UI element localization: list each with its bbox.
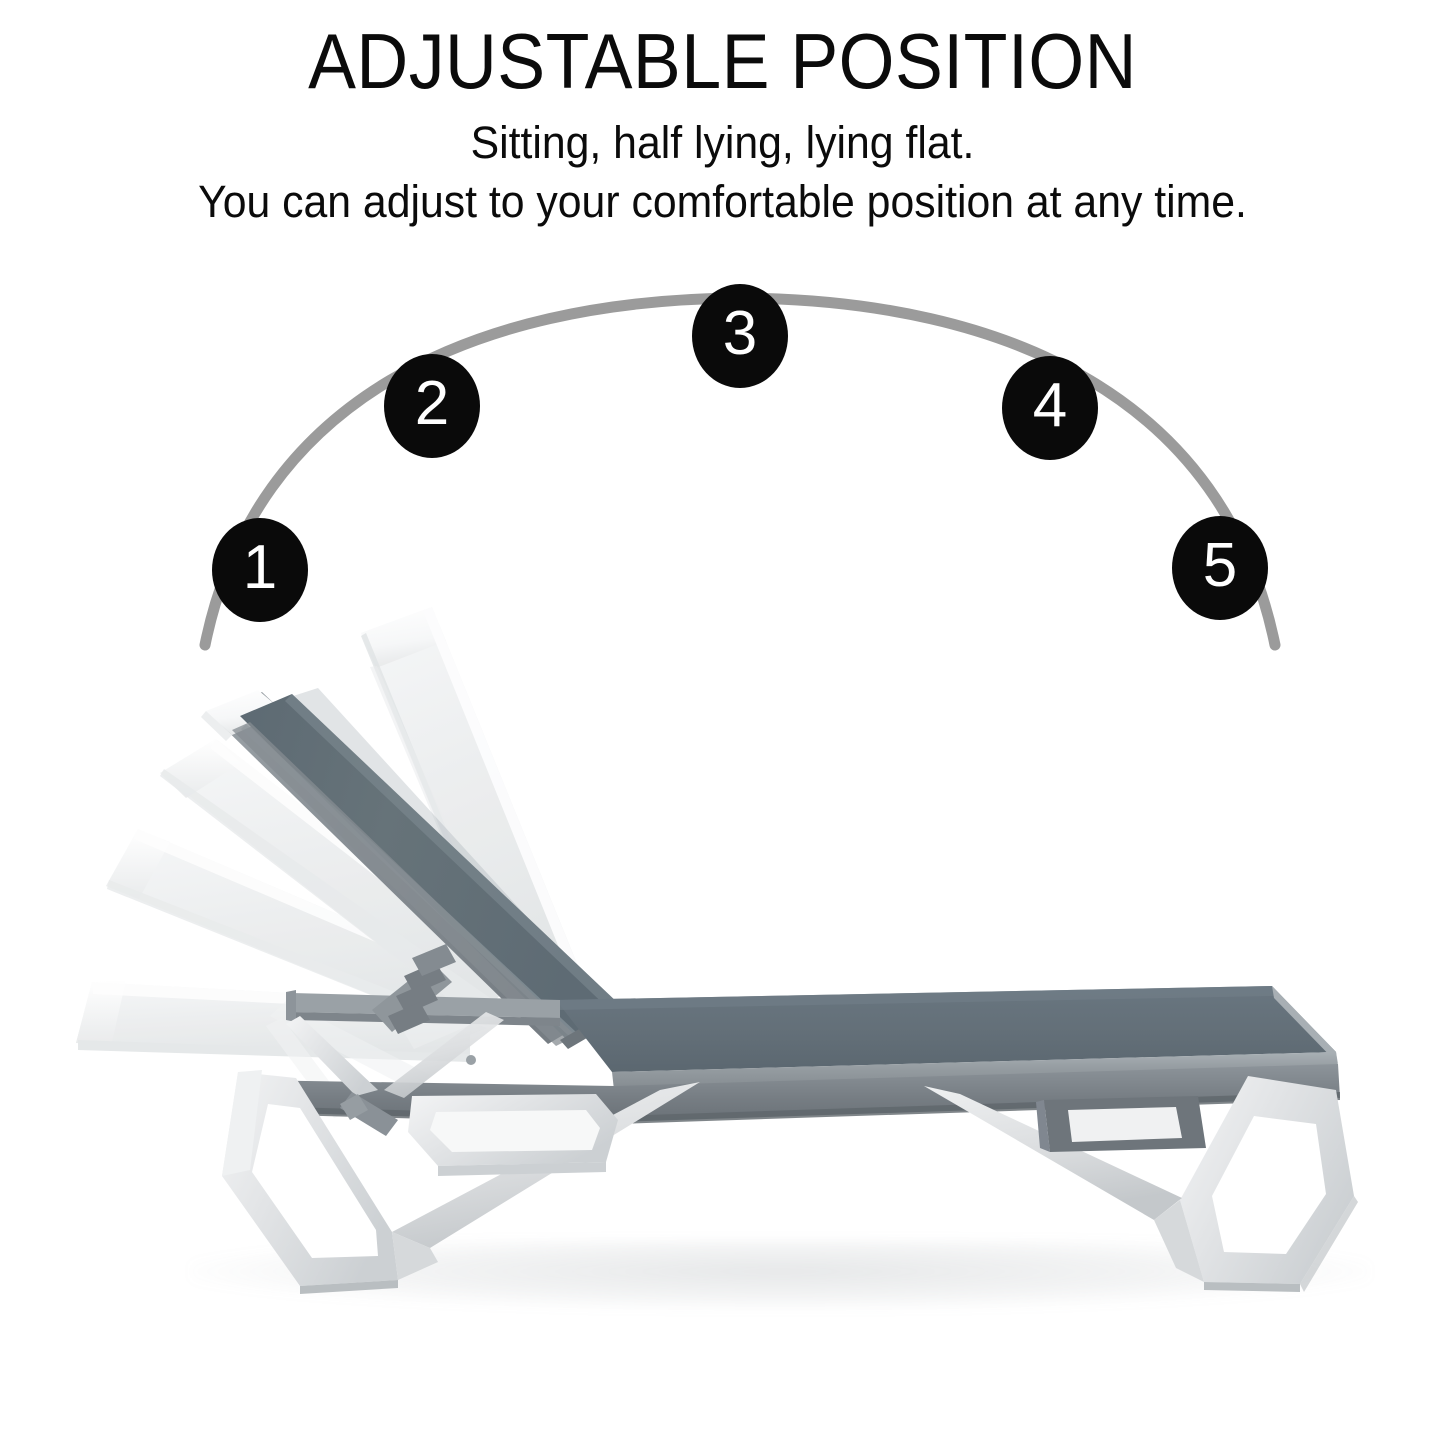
infographic-canvas: ADJUSTABLE POSITION Sitting, half lying,… <box>0 0 1445 1445</box>
position-badge-1[interactable]: 1 <box>212 518 308 622</box>
position-badge-5[interactable]: 5 <box>1172 516 1268 620</box>
chaise-lounge-svg <box>0 0 1445 1445</box>
mid-support-bracket <box>1036 1096 1206 1152</box>
product-illustration <box>0 0 1445 1445</box>
position-badge-3[interactable]: 3 <box>692 284 788 388</box>
under-seat-housing <box>408 1094 618 1176</box>
position-badge-2[interactable]: 2 <box>384 354 480 458</box>
position-badge-4[interactable]: 4 <box>1002 356 1098 460</box>
